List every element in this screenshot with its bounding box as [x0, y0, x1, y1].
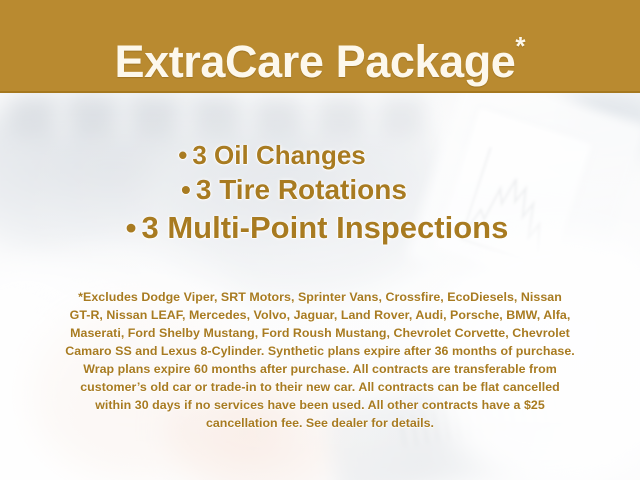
disclaimer-line: Camaro SS and Lexus 8-Cylinder. Syntheti… — [34, 342, 606, 360]
page-title-asterisk: * — [515, 31, 525, 61]
benefit-label: 3 Tire Rotations — [196, 174, 407, 205]
benefit-item-oil-changes: •3 Oil Changes — [0, 138, 640, 172]
disclaimer-line: customer’s old car or trade-in to their … — [34, 378, 606, 396]
extracare-package-poster: ExtraCare Package* •3 Oil Changes •3 Tir… — [0, 0, 640, 480]
disclaimer-line: Wrap plans expire 60 months after purcha… — [34, 360, 606, 378]
benefit-label: 3 Oil Changes — [192, 140, 365, 170]
benefit-item-tire-rotations: •3 Tire Rotations — [0, 172, 640, 208]
bullet-icon: • — [178, 140, 192, 170]
disclaimer-text: *Excludes Dodge Viper, SRT Motors, Sprin… — [34, 288, 606, 432]
page-title: ExtraCare Package* — [0, 16, 640, 92]
disclaimer-line: cancellation fee. See dealer for details… — [34, 414, 606, 432]
benefits-list: •3 Oil Changes •3 Tire Rotations •3 Mult… — [0, 138, 640, 248]
disclaimer-line: GT-R, Nissan LEAF, Mercedes, Volvo, Jagu… — [34, 306, 606, 324]
hood-liner-stripes — [10, 98, 430, 138]
benefit-label: 3 Multi-Point Inspections — [142, 210, 509, 245]
bullet-icon: • — [181, 174, 196, 205]
bullet-icon: • — [126, 210, 142, 245]
benefit-item-multi-point-inspections: •3 Multi-Point Inspections — [0, 208, 640, 248]
page-title-text: ExtraCare Package — [114, 36, 515, 87]
disclaimer-line: *Excludes Dodge Viper, SRT Motors, Sprin… — [34, 288, 606, 306]
disclaimer-line: within 30 days if no services have been … — [34, 396, 606, 414]
disclaimer-line: Maserati, Ford Shelby Mustang, Ford Rous… — [34, 324, 606, 342]
header-band: ExtraCare Package* — [0, 0, 640, 93]
